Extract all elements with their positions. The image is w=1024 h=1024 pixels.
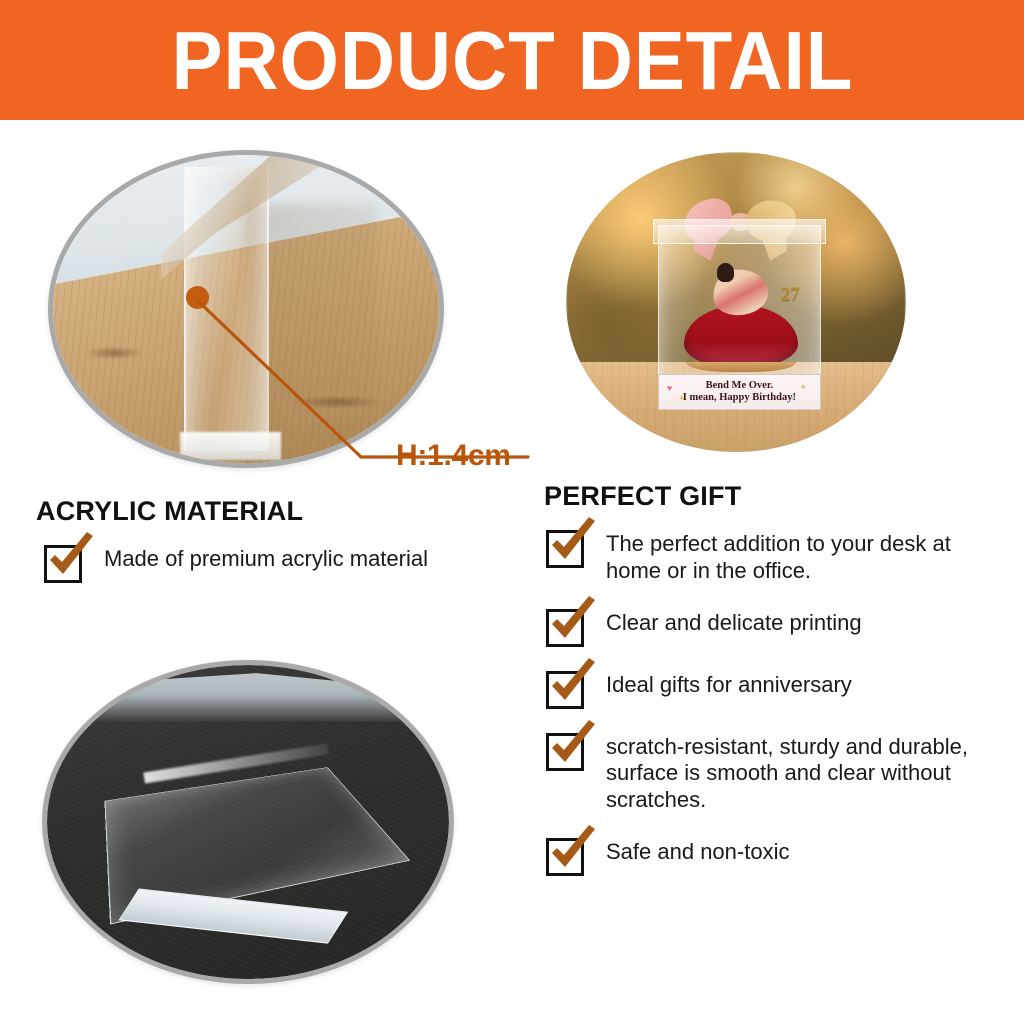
star-confetti-icon: ✦: [790, 395, 796, 403]
gift-box-message: Bend Me Over. I mean, Happy Birthday!: [683, 380, 796, 404]
checkbox-checked-icon[interactable]: [546, 838, 584, 876]
photo-acrylic-block-on-slate: [42, 660, 454, 984]
feature-item: Clear and delicate printing: [546, 607, 1008, 647]
photo-acrylic-block-image: [47, 665, 449, 979]
feature-text: scratch-resistant, sturdy and durable, s…: [606, 731, 1008, 814]
feature-item: Safe and non-toxic: [546, 836, 1008, 876]
gift-box-base-band: ♥ ✦ ✦ ✦ Bend Me Over. I mean, Happy Birt…: [658, 374, 821, 410]
star-confetti-icon: ✦: [678, 393, 686, 404]
feature-list-acrylic-material: Made of premium acrylic material: [44, 543, 514, 605]
checkbox-checked-icon[interactable]: [44, 545, 82, 583]
checkbox-checked-icon[interactable]: [546, 733, 584, 771]
number-candle: 27: [781, 284, 800, 306]
checkbox-checked-icon[interactable]: [546, 530, 584, 568]
photo-gift-box: 27 ♥ ✦ ✦ ✦ Bend Me Over. I mean, Happy B…: [566, 152, 906, 452]
feature-text: Clear and delicate printing: [606, 607, 862, 637]
checkbox-checked-icon[interactable]: [546, 609, 584, 647]
dimension-label-height: H:1.4cm: [396, 439, 511, 473]
feature-item: Ideal gifts for anniversary: [546, 669, 1008, 709]
acrylic-block: [111, 740, 376, 916]
feature-item: Made of premium acrylic material: [44, 543, 514, 583]
gift-box-lid: [653, 219, 826, 244]
checkbox-checked-icon[interactable]: [546, 671, 584, 709]
feature-text: The perfect addition to your desk at hom…: [606, 528, 1008, 585]
feature-text: Made of premium acrylic material: [104, 543, 428, 573]
feature-text: Safe and non-toxic: [606, 836, 789, 866]
feature-item: The perfect addition to your desk at hom…: [546, 528, 1008, 585]
feature-text: Ideal gifts for anniversary: [606, 669, 852, 699]
heart-confetti-icon: ♥: [667, 383, 672, 393]
feature-list-perfect-gift: The perfect addition to your desk at hom…: [546, 528, 1008, 898]
section-heading-acrylic-material: ACRYLIC MATERIAL: [36, 496, 303, 527]
figurine-hair: [717, 263, 735, 282]
section-heading-perfect-gift: PERFECT GIFT: [544, 481, 741, 512]
photo-gift-box-image: 27 ♥ ✦ ✦ ✦ Bend Me Over. I mean, Happy B…: [566, 152, 906, 452]
feature-item: scratch-resistant, sturdy and durable, s…: [546, 731, 1008, 814]
gift-box: 27 ♥ ✦ ✦ ✦ Bend Me Over. I mean, Happy B…: [658, 200, 821, 410]
star-confetti-icon: ✦: [800, 382, 808, 393]
